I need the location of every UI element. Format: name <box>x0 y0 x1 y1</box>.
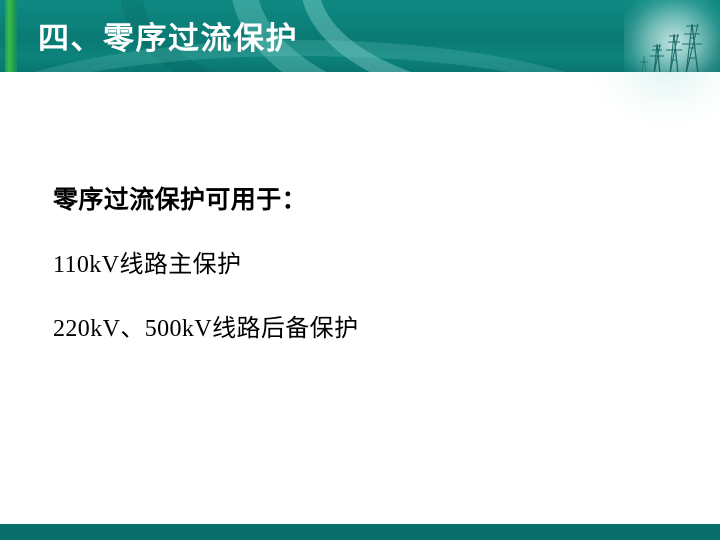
header-underglow <box>590 72 720 128</box>
presentation-slide: 四、零序过流保护 零序过流保护可用于： 110kV线路主保护 220kV、500… <box>0 0 720 540</box>
content-heading: 零序过流保护可用于： <box>53 180 307 216</box>
slide-header-banner: 四、零序过流保护 <box>0 0 720 72</box>
content-item-1: 110kV线路主保护 <box>53 244 241 279</box>
slide-body: 零序过流保护可用于： 110kV线路主保护 220kV、500kV线路后备保护 … <box>0 72 720 524</box>
content-item-2: 220kV、500kV线路后备保护 <box>53 308 358 343</box>
page-title: 四、零序过流保护 <box>38 21 298 56</box>
header-title-layer: 四、零序过流保护 <box>0 0 720 72</box>
slide-footer-bar <box>0 524 720 540</box>
